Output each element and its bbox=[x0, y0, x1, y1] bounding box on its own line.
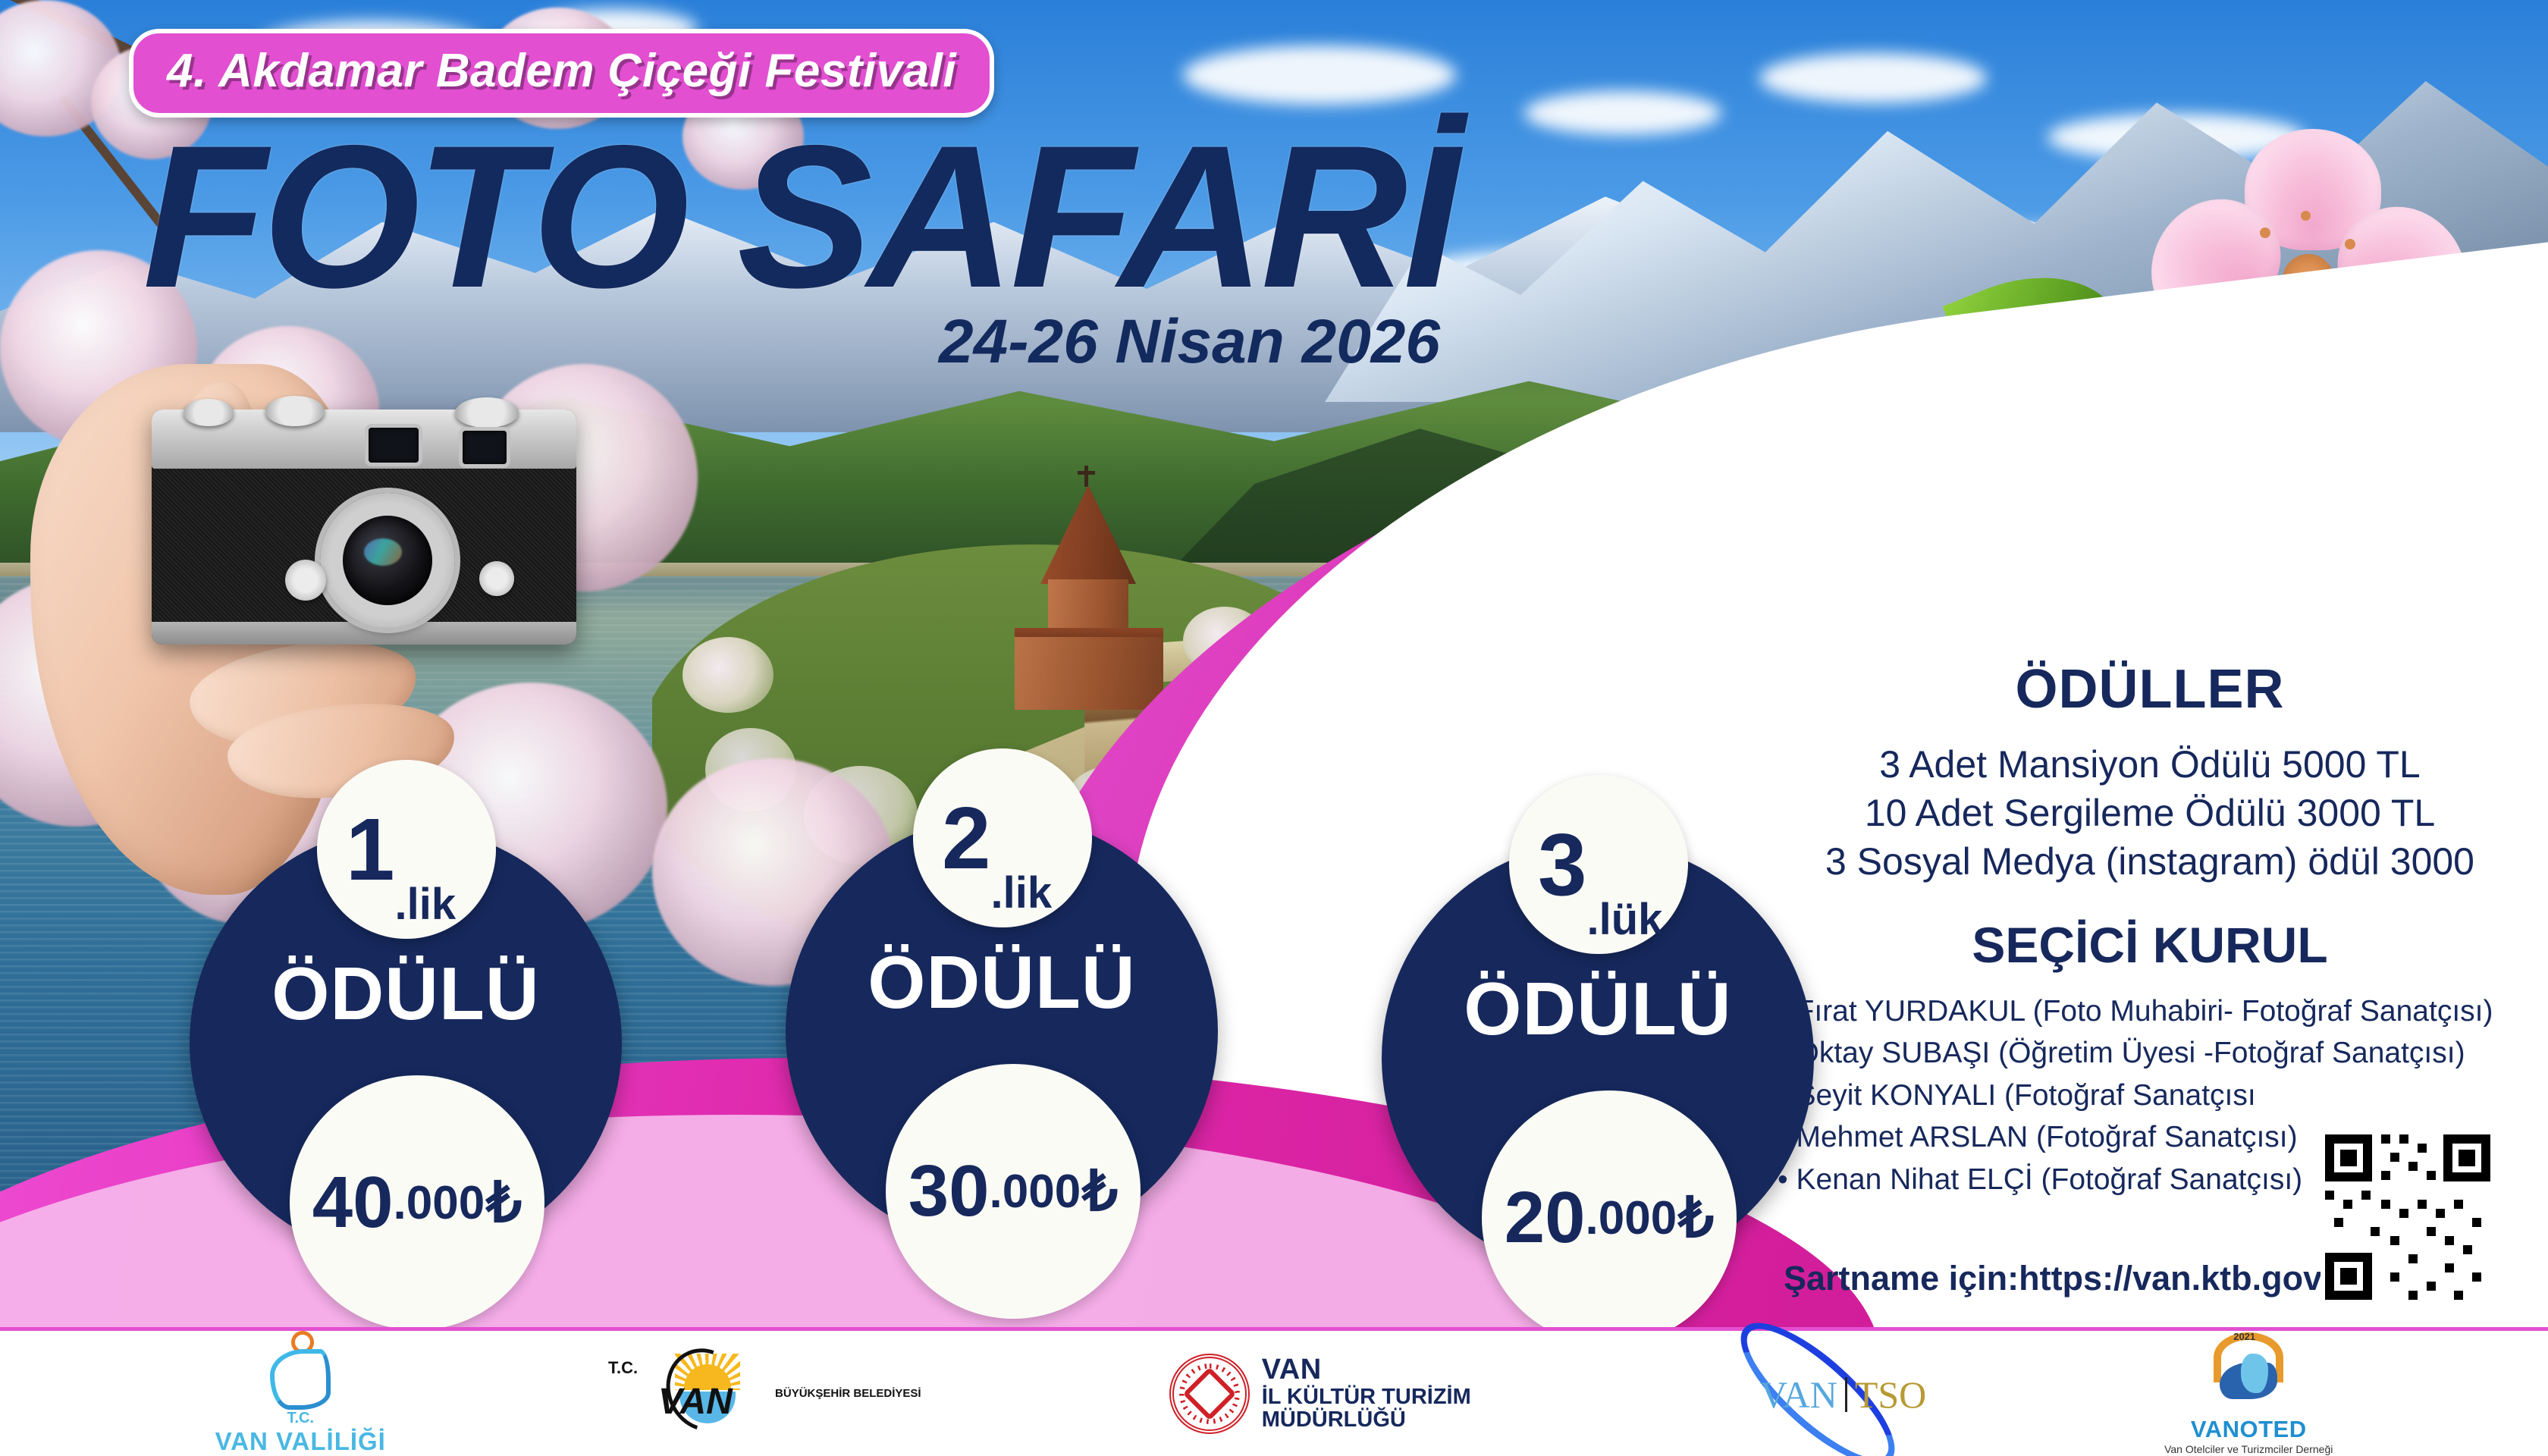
prize-rank-number: 3 bbox=[1538, 821, 1587, 908]
prize-rank-badge: 1 .lik bbox=[317, 760, 496, 939]
prize-amount-minor: .000 bbox=[990, 1165, 1081, 1219]
qr-code-icon[interactable] bbox=[2320, 1130, 2495, 1304]
island-tree bbox=[682, 637, 773, 713]
camera-base bbox=[152, 622, 576, 645]
camera-lens-ring bbox=[320, 493, 455, 628]
logo-van-tso: VAN TSO bbox=[1719, 1354, 1916, 1433]
prize-label: ÖDÜLÜ bbox=[190, 951, 622, 1037]
jury-member: Oktay SUBAŞI (Öğretim Üyesi -Fotoğraf Sa… bbox=[1778, 1032, 2533, 1074]
event-date: 24-26 Nisan 2026 bbox=[939, 306, 1455, 378]
camera-rangefinder-window bbox=[369, 428, 419, 463]
logo-line1: T.C. bbox=[608, 1358, 638, 1378]
logo-vanoted: 2021 VANOTED Van Otelciler ve Turizmcile… bbox=[2164, 1332, 2333, 1455]
prize-amount-minor: .000 bbox=[1586, 1191, 1677, 1245]
logo-line1: VAN bbox=[1760, 1373, 1837, 1417]
prize-label: ÖDÜLÜ bbox=[1382, 966, 1814, 1052]
belediye-sun-water-icon: VAN bbox=[661, 1348, 751, 1437]
stamen bbox=[2345, 239, 2355, 249]
prize-rank-suffix: .lik bbox=[395, 883, 457, 939]
vanoted-emblem-icon: 2021 bbox=[2203, 1332, 2294, 1416]
camera-advance-dial bbox=[455, 397, 519, 428]
logo-line1: VAN bbox=[1262, 1355, 1471, 1385]
awards-list: 3 Adet Mansiyon Ödülü 5000 TL 10 Adet Se… bbox=[1767, 740, 2533, 886]
camera-viewfinder-window bbox=[463, 431, 507, 464]
info-panel: ÖDÜLLER 3 Adet Mansiyon Ödülü 5000 TL 10… bbox=[1767, 658, 2533, 1200]
church-cone-roof bbox=[1040, 485, 1136, 584]
logo-line2: Van Otelciler ve Turizmciler Derneği bbox=[2164, 1443, 2333, 1455]
logo-van-kultur-turizm: VAN İL KÜLTÜR TURİZİM MÜDÜRLÜĞÜ bbox=[1169, 1354, 1471, 1434]
prize-amount-badge: 20 .000 ₺ bbox=[1482, 1090, 1737, 1345]
logo-divider bbox=[1845, 1377, 1847, 1412]
lira-currency-icon: ₺ bbox=[486, 1170, 522, 1235]
logo-line2: TSO bbox=[1855, 1373, 1926, 1417]
logo-line3: 2021 bbox=[2233, 1331, 2255, 1342]
prize-rank-badge: 2 .lik bbox=[913, 748, 1092, 927]
sponsor-logo-strip: T.C. VAN VALİLİĞİ T.C. VAN BÜYÜKŞEHİR BE… bbox=[0, 1327, 2548, 1456]
cloud-shape bbox=[1524, 91, 1721, 135]
stamen bbox=[2260, 227, 2270, 238]
prize-rank-suffix: .lik bbox=[991, 871, 1053, 927]
logo-line2: İL KÜLTÜR TURİZİM bbox=[1262, 1385, 1471, 1408]
prize-amount-badge: 40 .000 ₺ bbox=[290, 1075, 544, 1330]
ministry-emblem-icon bbox=[1169, 1354, 1250, 1434]
prize-rank-suffix: .lük bbox=[1587, 898, 1663, 954]
akdamar-church bbox=[1009, 485, 1168, 705]
logo-line3: MÜDÜRLÜĞÜ bbox=[1262, 1408, 1471, 1431]
jury-member: Seyit KONYALI (Fotoğraf Sanatçısı bbox=[1778, 1075, 2533, 1116]
vintage-camera bbox=[152, 409, 576, 645]
lira-currency-icon: ₺ bbox=[1082, 1159, 1118, 1224]
prize-amount-major: 20 bbox=[1505, 1176, 1586, 1260]
camera-lens bbox=[343, 516, 432, 605]
prize-amount-minor: .000 bbox=[394, 1176, 485, 1230]
logo-line2: VAN VALİLİĞİ bbox=[215, 1427, 386, 1456]
logo-van-buyuksehir-belediyesi: T.C. VAN BÜYÜKŞEHİR BELEDİYESİ bbox=[634, 1345, 921, 1443]
camera-strap-lug bbox=[479, 561, 514, 596]
award-item: 3 Adet Mansiyon Ödülü 5000 TL bbox=[1767, 740, 2533, 789]
camera-shutter-dial bbox=[265, 396, 325, 426]
lira-currency-icon: ₺ bbox=[1678, 1185, 1714, 1250]
poster-root: 4. Akdamar Badem Çiçeği Festivali FOTO S… bbox=[0, 0, 2548, 1456]
logo-line1: VANOTED bbox=[2164, 1416, 2333, 1443]
logo-van-valiligi: T.C. VAN VALİLİĞİ bbox=[215, 1331, 386, 1456]
church-body bbox=[1015, 637, 1163, 710]
title-block: FOTO SAFARİ 24-26 Nisan 2026 bbox=[143, 129, 1455, 378]
awards-heading: ÖDÜLLER bbox=[1767, 658, 2533, 720]
award-item: 3 Sosyal Medya (instagram) ödül 3000 bbox=[1767, 837, 2533, 886]
award-item: 10 Adet Sergileme Ödülü 3000 TL bbox=[1767, 789, 2533, 837]
cross-icon bbox=[1084, 466, 1088, 487]
logo-line3: BÜYÜKŞEHİR BELEDİYESİ bbox=[775, 1387, 921, 1400]
jury-member: Fırat YURDAKUL (Foto Muhabiri- Fotoğraf … bbox=[1778, 990, 2533, 1032]
prize-rank-number: 1 bbox=[346, 805, 395, 893]
festival-banner-text: 4. Akdamar Badem Çiçeği Festivali bbox=[167, 44, 956, 98]
van-tso-eye-icon: VAN TSO bbox=[1719, 1354, 1916, 1433]
page-title: FOTO SAFARİ bbox=[143, 129, 1455, 303]
stamen bbox=[2301, 211, 2311, 221]
prize-rank-badge: 3 .lük bbox=[1509, 775, 1688, 954]
prize-amount-major: 40 bbox=[312, 1161, 394, 1244]
prize-amount-badge: 30 .000 ₺ bbox=[886, 1064, 1141, 1319]
prize-rank-number: 2 bbox=[942, 794, 991, 882]
logo-line1: T.C. bbox=[215, 1410, 386, 1427]
cloud-shape bbox=[1183, 45, 1456, 105]
regulation-url[interactable]: Şartname için:https://van.ktb.gov.tr bbox=[1784, 1259, 2354, 1298]
jury-heading: SEÇİCİ KURUL bbox=[1767, 916, 2533, 974]
camera-rewind-dial bbox=[184, 399, 234, 426]
prize-amount-major: 30 bbox=[908, 1150, 990, 1233]
prize-label: ÖDÜLÜ bbox=[786, 940, 1218, 1025]
camera-self-timer-lever bbox=[285, 560, 326, 601]
van-valiligi-emblem-icon bbox=[265, 1331, 335, 1410]
cloud-shape bbox=[1759, 53, 1987, 103]
logo-line2: VAN bbox=[658, 1381, 733, 1423]
